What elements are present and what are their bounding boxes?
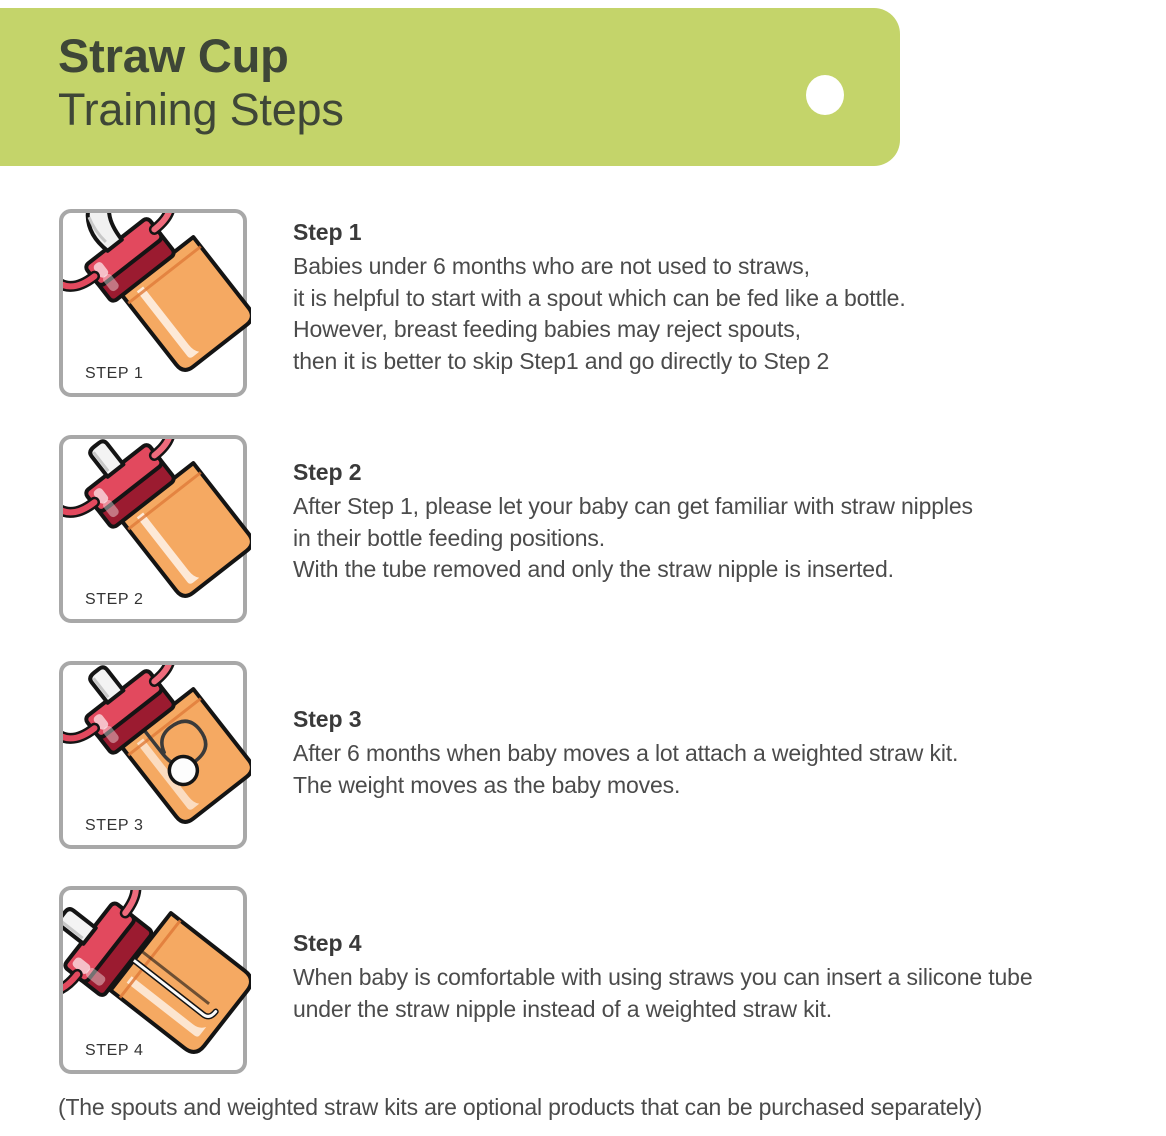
step-illustration-box: STEP 2: [59, 435, 247, 623]
title-subtitle: Training Steps: [58, 87, 344, 132]
step-heading: Step 3: [293, 706, 958, 733]
step-heading: Step 1: [293, 219, 906, 246]
punch-hole-icon: [806, 75, 844, 115]
step-body-line: When baby is comfortable with using stra…: [293, 962, 1032, 994]
step-text-block: Step 3 After 6 months when baby moves a …: [293, 706, 958, 801]
footer-note: (The spouts and weighted straw kits are …: [58, 1094, 982, 1121]
step-body-line: After 6 months when baby moves a lot att…: [293, 738, 958, 770]
step-heading: Step 2: [293, 459, 973, 486]
step-heading: Step 4: [293, 930, 1032, 957]
title-main: Straw Cup: [58, 32, 344, 79]
step-text-block: Step 1 Babies under 6 months who are not…: [293, 219, 906, 377]
step-body-line: under the straw nipple instead of a weig…: [293, 994, 1032, 1026]
step-text-block: Step 4 When baby is comfortable with usi…: [293, 930, 1032, 1025]
step-body-line: in their bottle feeding positions.: [293, 523, 973, 555]
header-tag: Straw Cup Training Steps: [0, 8, 900, 166]
step-illustration-box: STEP 1: [59, 209, 247, 397]
step-body-line: it is helpful to start with a spout whic…: [293, 283, 906, 315]
step-illustration-box: STEP 4: [59, 886, 247, 1074]
step-box-label: STEP 4: [85, 1042, 143, 1060]
step-illustration-box: STEP 3: [59, 661, 247, 849]
step-body-line: However, breast feeding babies may rejec…: [293, 314, 906, 346]
step-text-block: Step 2 After Step 1, please let your bab…: [293, 459, 973, 586]
page-title: Straw Cup Training Steps: [58, 32, 344, 132]
step-box-label: STEP 1: [85, 365, 143, 383]
step-body-line: With the tube removed and only the straw…: [293, 554, 973, 586]
step-body-line: then it is better to skip Step1 and go d…: [293, 346, 906, 378]
step-body-line: After Step 1, please let your baby can g…: [293, 491, 973, 523]
step-body-line: The weight moves as the baby moves.: [293, 770, 958, 802]
step-box-label: STEP 3: [85, 817, 143, 835]
step-body-line: Babies under 6 months who are not used t…: [293, 251, 906, 283]
step-box-label: STEP 2: [85, 591, 143, 609]
